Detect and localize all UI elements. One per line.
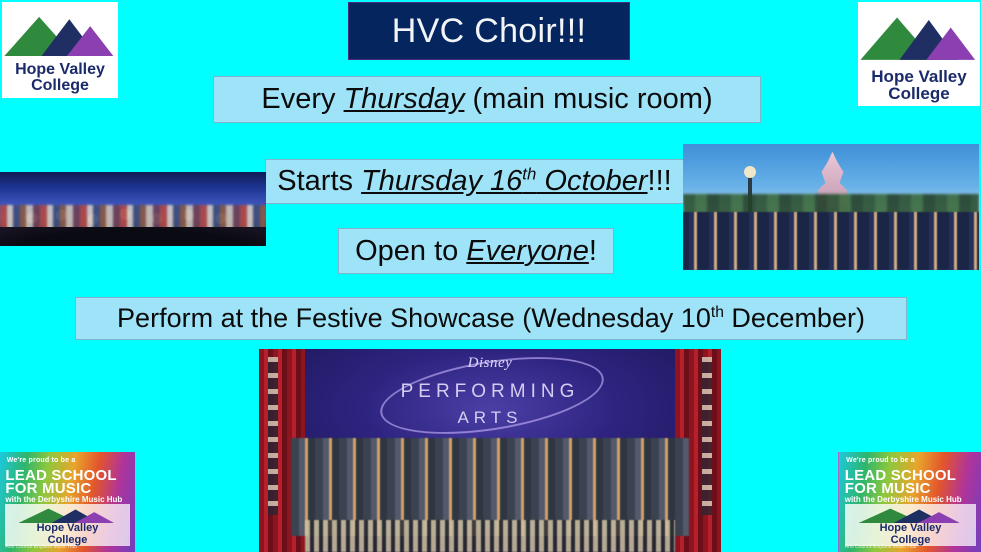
hope-valley-college-logo-top-right: Hope Valley College — [858, 2, 980, 106]
badge-college-label: Hope Valley College — [845, 523, 977, 546]
badge-college-line-1: Hope Valley — [37, 522, 99, 534]
banner-start-date-text: Starts Thursday 16th October!!! — [277, 165, 671, 198]
badge-footer-text: Arts Council England Music Hub — [5, 544, 129, 552]
banner-festive-showcase-text: Perform at the Festive Showcase (Wednesd… — [117, 303, 865, 334]
mountain-peaks-icon — [2, 10, 118, 56]
hope-valley-college-logo-label: Hope Valley College — [858, 68, 980, 102]
disneyland-castle-group-photo — [683, 144, 979, 270]
banner-open-to-all: Open to Everyone! — [338, 228, 614, 274]
logo-line-2: College — [858, 85, 980, 102]
christmas-jumper-group-photo — [0, 172, 266, 246]
text-prefix: Perform at the Festive Showcase (Wednesd… — [117, 303, 711, 333]
text-suffix: December) — [724, 303, 865, 333]
text-prefix: Starts — [277, 165, 361, 197]
text-suffix: ! — [589, 235, 597, 267]
badge-hope-valley-logo: Hope Valley College — [845, 504, 977, 546]
text-emphasis: Thursday 16th October — [361, 165, 647, 197]
mountain-peaks-icon — [855, 506, 966, 524]
backdrop-performing-text: PERFORMING — [259, 381, 721, 403]
lead-school-for-music-badge-bottom-left: We're proud to be a LEAD SCHOOL FOR MUSI… — [0, 452, 135, 552]
banner-weekly-schedule: Every Thursday (main music room) — [213, 76, 761, 123]
badge-college-label: Hope Valley College — [5, 523, 129, 546]
emphasis-tail: October — [536, 165, 647, 197]
choir-lower-row — [305, 520, 675, 552]
hope-valley-college-logo-top-left: Hope Valley College — [2, 2, 118, 98]
banner-festive-showcase: Perform at the Festive Showcase (Wednesd… — [75, 297, 907, 340]
slide-title-box: HVC Choir!!! — [348, 2, 630, 60]
photo-audience-silhouette — [0, 227, 266, 246]
badge-hub-text: with the Derbyshire Music Hub — [5, 495, 122, 504]
photo-group-in-navy-jackets — [683, 212, 979, 270]
backdrop-arts-text: ARTS — [259, 408, 721, 428]
badge-proud-text: We're proud to be a — [7, 457, 76, 464]
logo-line-1: Hope Valley — [15, 61, 105, 78]
lead-school-for-music-badge-bottom-right: We're proud to be a LEAD SCHOOL FOR MUSI… — [838, 452, 981, 552]
slide-canvas: HVC Choir!!! Hope Valley College Hope Va… — [0, 0, 981, 552]
backdrop-disney-wordmark: Disney — [259, 355, 721, 372]
mountain-peaks-icon — [15, 506, 119, 524]
text-emphasis: Everyone — [466, 235, 589, 267]
emphasis-main: Thursday 16 — [361, 165, 522, 197]
text-suffix: !!! — [648, 165, 672, 197]
hope-valley-college-logo-label: Hope Valley College — [2, 62, 118, 94]
banner-weekly-schedule-text: Every Thursday (main music room) — [261, 83, 712, 116]
badge-headline-line-2: FOR MUSIC — [5, 481, 91, 496]
badge-footer-text: Arts Council England Music Hub — [845, 544, 977, 552]
logo-line-2: College — [2, 78, 118, 94]
badge-hope-valley-logo: Hope Valley College — [5, 504, 129, 546]
disney-performing-arts-stage-photo: Disney PERFORMING ARTS — [259, 349, 721, 552]
badge-college-line-1: Hope Valley — [880, 522, 942, 534]
text-suffix: (main music room) — [464, 83, 712, 115]
badge-headline-line-2: FOR MUSIC — [845, 481, 931, 496]
text-prefix: Open to — [355, 235, 466, 267]
mountain-peaks-icon — [858, 10, 980, 60]
banner-start-date: Starts Thursday 16th October!!! — [265, 159, 684, 204]
text-prefix: Every — [261, 83, 343, 115]
page-title: HVC Choir!!! — [392, 12, 586, 51]
ordinal-suffix: th — [522, 164, 536, 183]
badge-hub-text: with the Derbyshire Music Hub — [845, 495, 962, 504]
ordinal-suffix: th — [711, 304, 724, 321]
text-emphasis: Thursday — [344, 83, 465, 115]
banner-open-to-all-text: Open to Everyone! — [355, 235, 597, 268]
badge-proud-text: We're proud to be a — [846, 457, 915, 464]
logo-line-1: Hope Valley — [871, 67, 966, 86]
